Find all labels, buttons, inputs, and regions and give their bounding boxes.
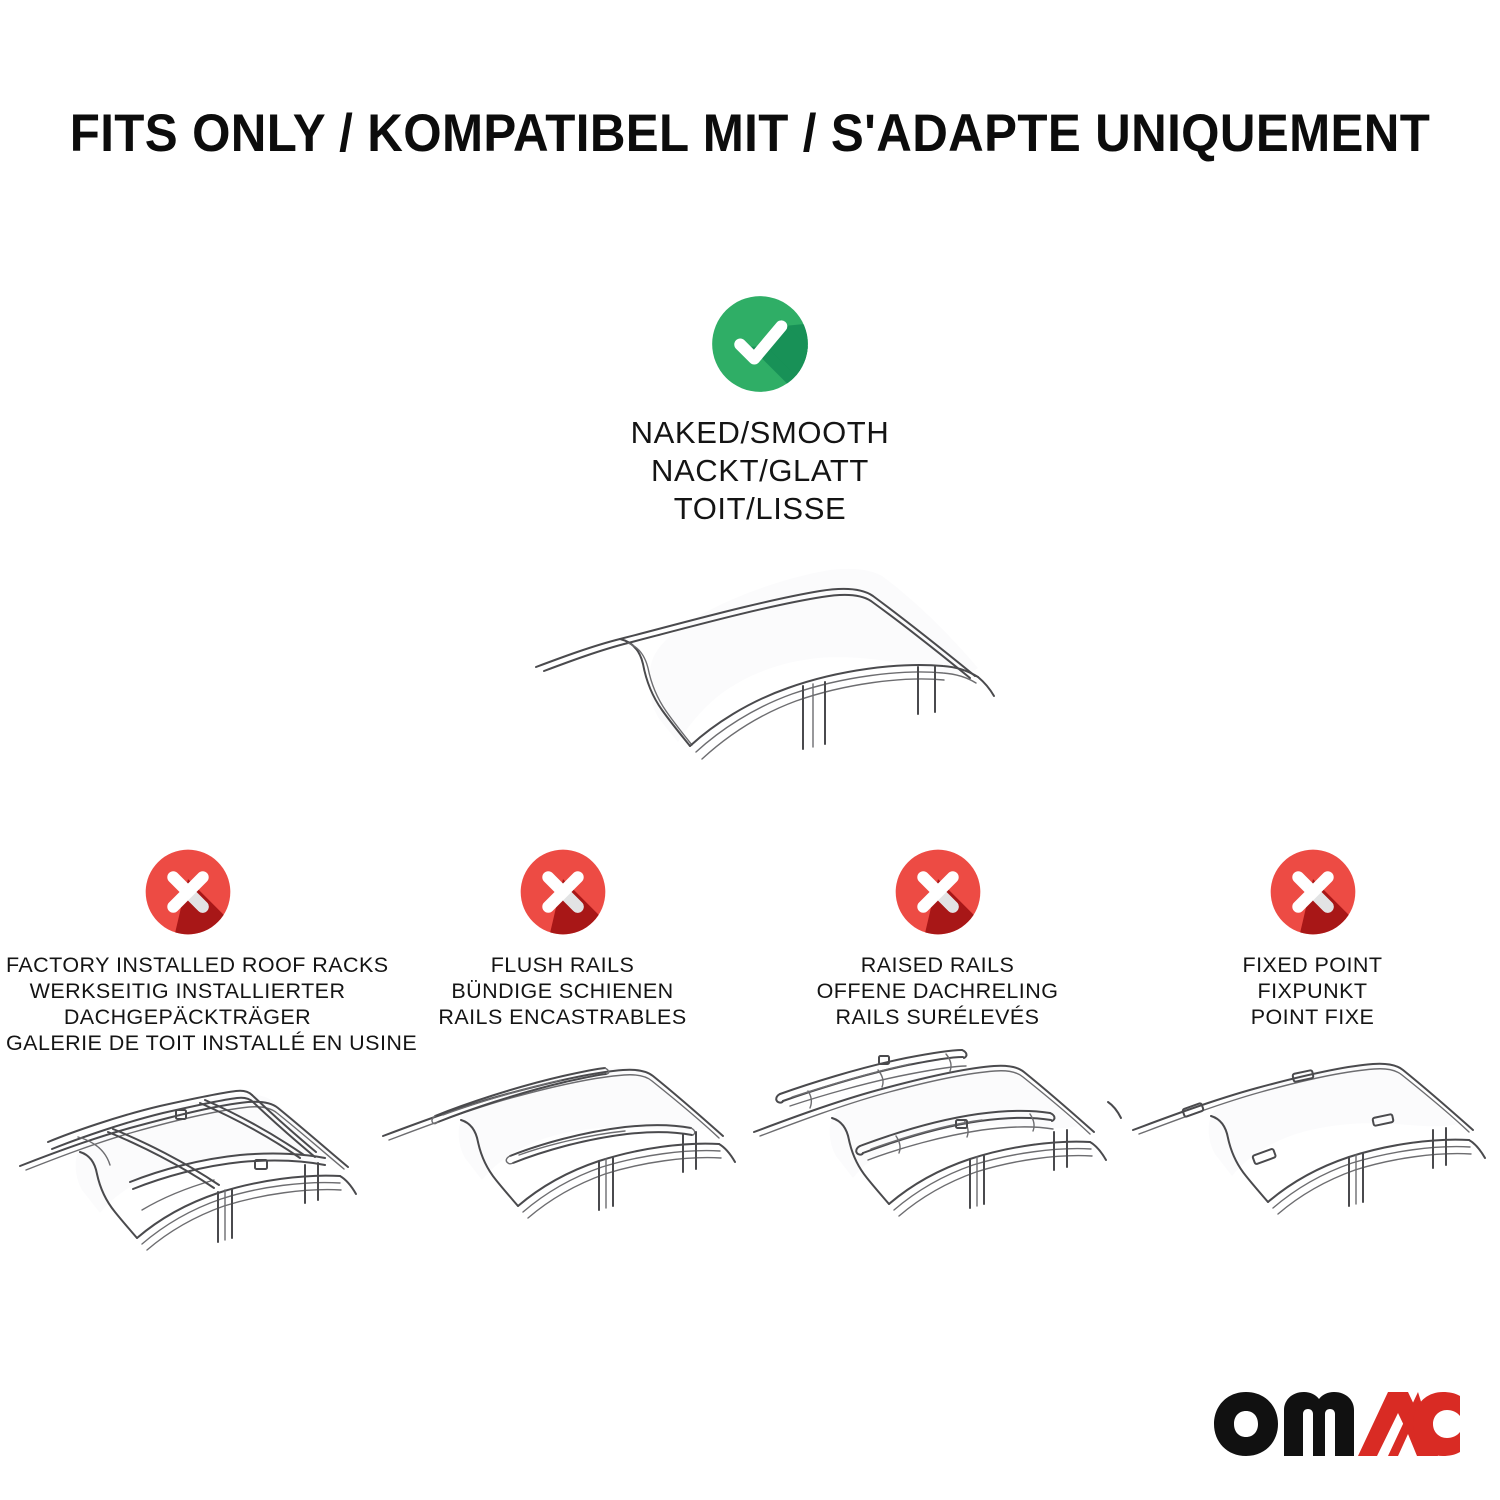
compatible-roof-type: NAKED/SMOOTH NACKT/GLATT TOIT/LISSE <box>500 292 1020 796</box>
caption-line-2: NACKT/GLATT <box>500 452 1020 490</box>
incompatible-roof-types: FACTORY INSTALLED ROOF RACKS WERKSEITIG … <box>0 846 1500 1260</box>
roof-type-flush-rails: FLUSH RAILS BÜNDIGE SCHIENEN RAILS ENCAS… <box>375 846 750 1234</box>
caption-line-1: RAISED RAILS <box>756 952 1119 978</box>
cross-circle-icon <box>142 846 234 938</box>
car-roof-naked-smooth-illustration <box>500 546 1020 796</box>
caption-line-3: TOIT/LISSE <box>500 490 1020 528</box>
cross-circle-icon <box>517 846 609 938</box>
caption-line-4: GALERIE DE TOIT INSTALLÉ EN USINE <box>6 1030 369 1056</box>
caption-line-2: BÜNDIGE SCHIENEN <box>381 978 744 1004</box>
check-circle-icon <box>708 292 812 396</box>
roof-type-caption: FIXED POINT FIXPUNKT POINT FIXE <box>1125 952 1500 1030</box>
roof-type-caption: FACTORY INSTALLED ROOF RACKS WERKSEITIG … <box>0 952 375 1056</box>
caption-line-3: DACHGEPÄCKTRÄGER <box>6 1004 369 1030</box>
caption-line-1: FACTORY INSTALLED ROOF RACKS <box>6 952 369 978</box>
compatible-caption: NAKED/SMOOTH NACKT/GLATT TOIT/LISSE <box>500 414 1020 528</box>
cross-circle-icon <box>892 846 984 938</box>
caption-line-2: FIXPUNKT <box>1131 978 1494 1004</box>
caption-line-2: OFFENE DACHRELING <box>756 978 1119 1004</box>
logo-letter-m <box>1284 1392 1354 1456</box>
car-roof-factory-racks-illustration <box>0 1070 375 1260</box>
caption-line-1: FLUSH RAILS <box>381 952 744 978</box>
cross-circle-icon <box>1267 846 1359 938</box>
page-title: FITS ONLY / KOMPATIBEL MIT / S'ADAPTE UN… <box>53 104 1448 164</box>
logo-letter-o <box>1214 1392 1278 1456</box>
caption-line-3: POINT FIXE <box>1131 1004 1494 1030</box>
roof-type-fixed-point: FIXED POINT FIXPUNKT POINT FIXE <box>1125 846 1500 1234</box>
caption-line-1: NAKED/SMOOTH <box>500 414 1020 452</box>
caption-line-2: WERKSEITIG INSTALLIERTER <box>6 978 369 1004</box>
roof-type-factory-racks: FACTORY INSTALLED ROOF RACKS WERKSEITIG … <box>0 846 375 1260</box>
roof-type-raised-rails: RAISED RAILS OFFENE DACHRELING RAILS SUR… <box>750 846 1125 1234</box>
caption-line-3: RAILS ENCASTRABLES <box>381 1004 744 1030</box>
car-roof-raised-rails-illustration <box>750 1044 1125 1234</box>
car-roof-flush-rails-illustration <box>375 1044 750 1234</box>
caption-line-3: RAILS SURÉLEVÉS <box>756 1004 1119 1030</box>
caption-line-1: FIXED POINT <box>1131 952 1494 978</box>
roof-type-caption: RAISED RAILS OFFENE DACHRELING RAILS SUR… <box>750 952 1125 1030</box>
roof-type-caption: FLUSH RAILS BÜNDIGE SCHIENEN RAILS ENCAS… <box>375 952 750 1030</box>
car-roof-fixed-point-illustration <box>1125 1044 1500 1234</box>
omac-logo <box>1212 1386 1462 1460</box>
